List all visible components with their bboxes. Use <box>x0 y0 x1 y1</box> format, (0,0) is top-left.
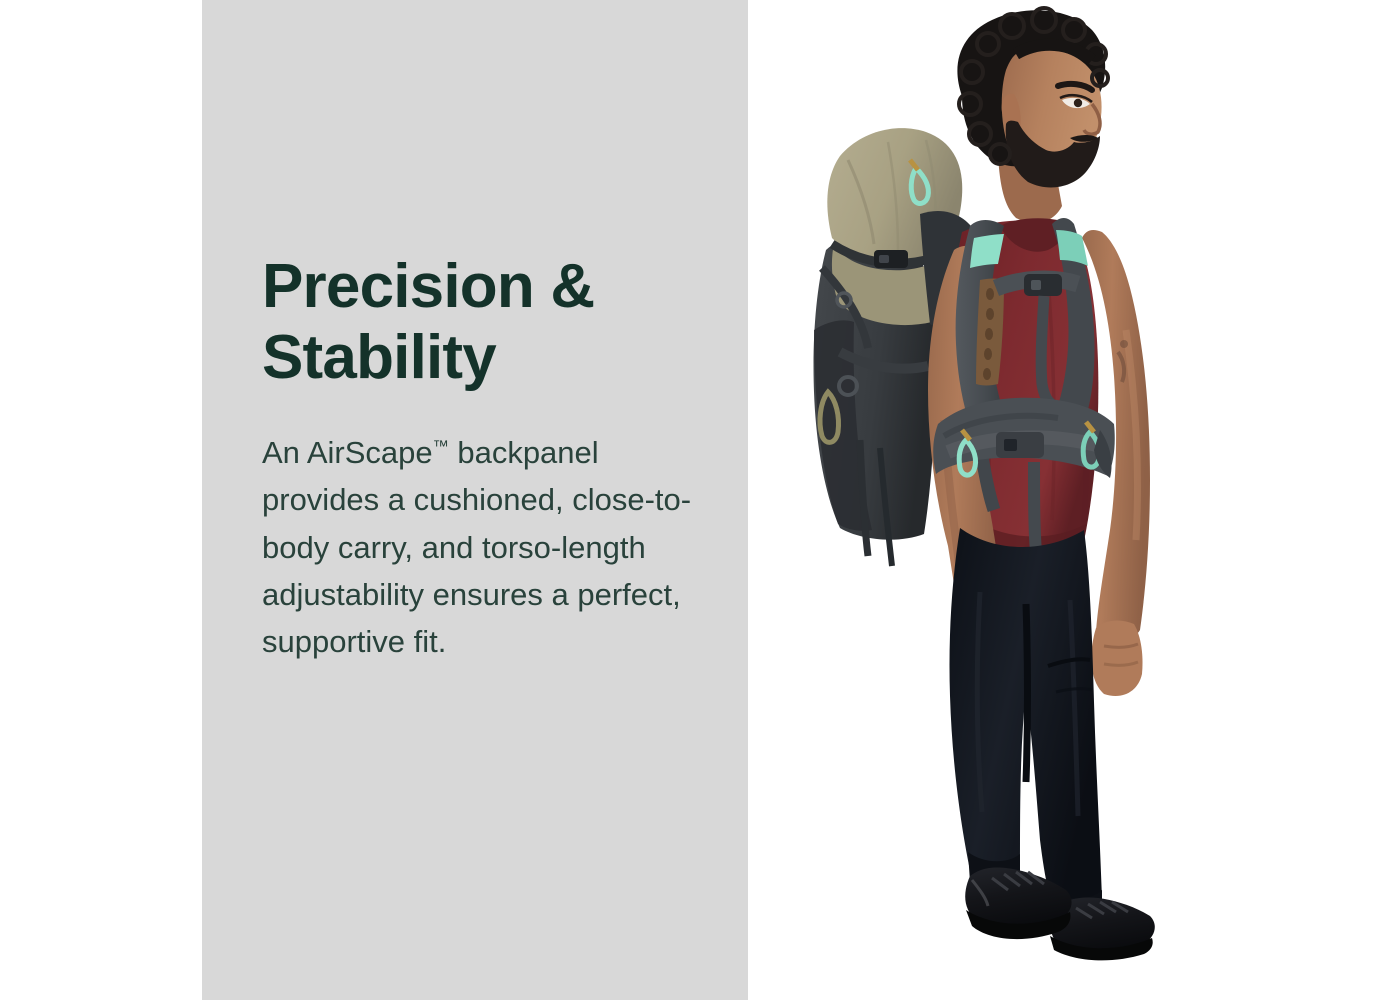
body-copy: An AirScape™ backpanel provides a cushio… <box>262 429 722 665</box>
hip-belt-buckle <box>996 432 1044 458</box>
marketing-banner: Precision & Stability An AirScape™ backp… <box>0 0 1400 1000</box>
trademark-symbol: ™ <box>433 438 449 456</box>
pants-inseam <box>1026 604 1028 782</box>
hiker-with-backpack-illustration <box>748 0 1400 1000</box>
body-copy-lead: An AirScape <box>262 435 433 470</box>
hand-far-fist <box>1091 621 1142 696</box>
product-photo <box>748 0 1400 1000</box>
page-title: Precision & Stability <box>262 252 662 393</box>
left-white-margin <box>0 0 202 1000</box>
pack-lid-buckle-slot <box>879 255 889 263</box>
hip-belt-buckle-slot <box>1004 439 1017 451</box>
text-panel-content: Precision & Stability An AirScape™ backp… <box>262 252 732 665</box>
sternum-buckle <box>1024 274 1062 296</box>
center-pull-strap <box>1034 462 1036 552</box>
text-panel: Precision & Stability An AirScape™ backp… <box>202 0 748 1000</box>
sternum-buckle-slot <box>1031 280 1041 290</box>
